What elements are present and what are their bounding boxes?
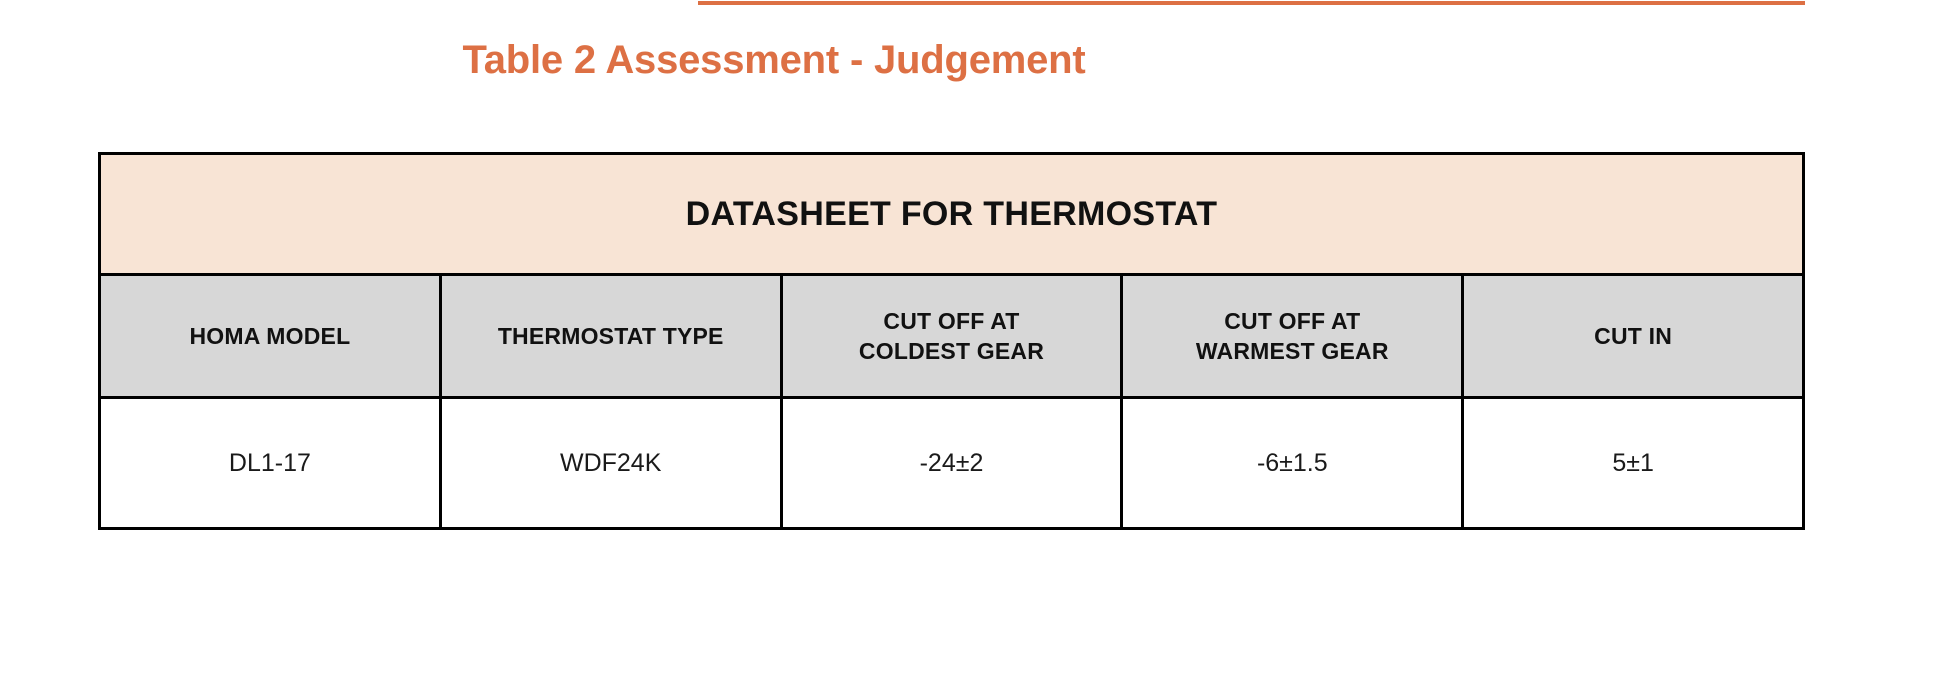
cell-thermostat-type: WDF24K — [440, 398, 781, 529]
column-header-cut-off-coldest-gear-line2: COLDEST GEAR — [783, 336, 1121, 366]
column-header-cut-off-coldest-gear-line1: CUT OFF AT — [783, 306, 1121, 336]
column-header-homa-model-line1: HOMA MODEL — [101, 321, 439, 351]
column-header-cut-in-line1: CUT IN — [1464, 321, 1802, 351]
column-header-homa-model: HOMA MODEL — [100, 275, 441, 398]
column-header-cut-off-coldest-gear: CUT OFF AT COLDEST GEAR — [781, 275, 1122, 398]
page-title: Table 2 Assessment - Judgement — [0, 36, 1548, 84]
cell-cut-off-warmest-gear: -6±1.5 — [1122, 398, 1463, 529]
column-header-thermostat-type: THERMOSTAT TYPE — [440, 275, 781, 398]
column-header-cut-off-warmest-gear: CUT OFF AT WARMEST GEAR — [1122, 275, 1463, 398]
column-header-cut-in: CUT IN — [1463, 275, 1804, 398]
table-banner-row: DATASHEET FOR THERMOSTAT — [100, 154, 1804, 275]
datasheet-table: DATASHEET FOR THERMOSTAT HOMA MODEL THER… — [98, 152, 1805, 530]
datasheet-table-container: DATASHEET FOR THERMOSTAT HOMA MODEL THER… — [98, 152, 1805, 530]
column-header-cut-off-warmest-gear-line1: CUT OFF AT — [1123, 306, 1461, 336]
column-header-cut-off-warmest-gear-line2: WARMEST GEAR — [1123, 336, 1461, 366]
cell-cut-in: 5±1 — [1463, 398, 1804, 529]
cell-homa-model: DL1-17 — [100, 398, 441, 529]
table-row: DL1-17 WDF24K -24±2 -6±1.5 5±1 — [100, 398, 1804, 529]
datasheet-banner-title: DATASHEET FOR THERMOSTAT — [100, 154, 1804, 275]
table-header-row: HOMA MODEL THERMOSTAT TYPE CUT OFF AT CO… — [100, 275, 1804, 398]
cell-cut-off-coldest-gear: -24±2 — [781, 398, 1122, 529]
column-header-thermostat-type-line1: THERMOSTAT TYPE — [442, 321, 780, 351]
top-accent-rule — [698, 1, 1805, 5]
